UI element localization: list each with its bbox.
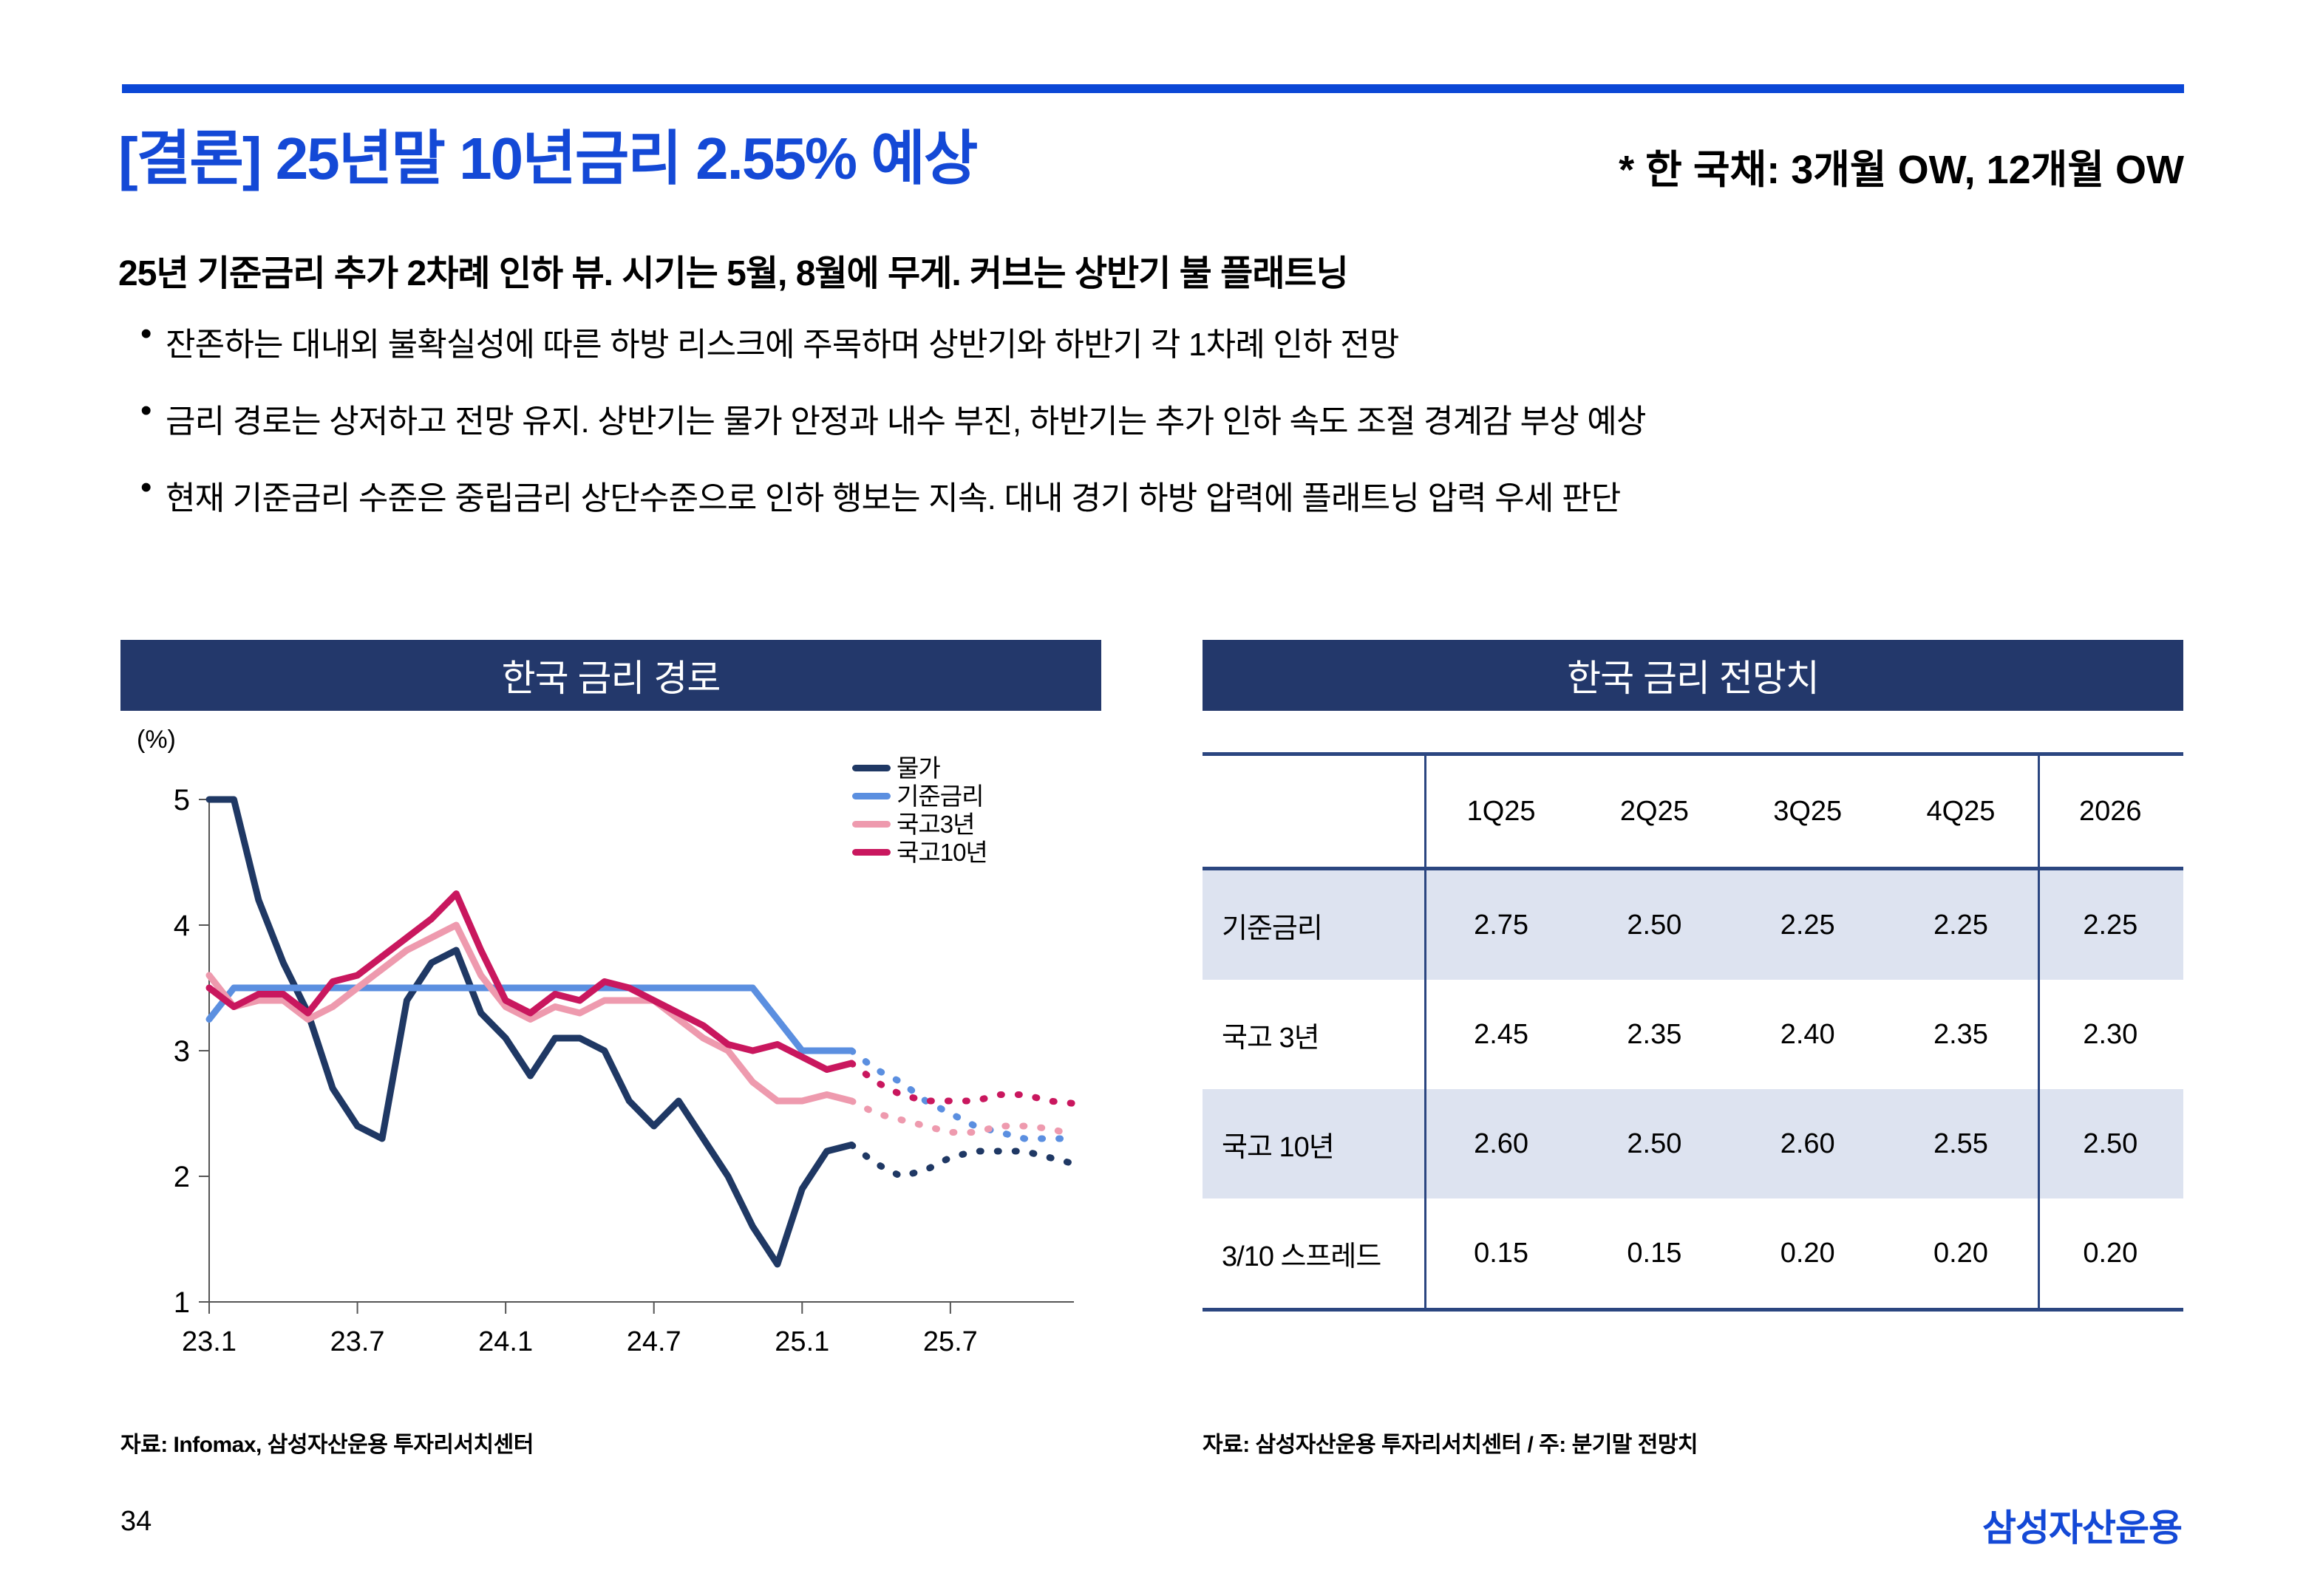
table-cell: 0.20 [1731,1198,1884,1310]
list-item: • 금리 경로는 상저하고 전망 유지. 상반기는 물가 안정과 내수 부진, … [140,395,2173,442]
table-row-label: 국고 10년 [1203,1089,1424,1198]
table-cell: 2.45 [1424,980,1577,1089]
y-axis-tick-label: 1 [174,1286,190,1319]
table-cell: 0.20 [2038,1198,2183,1310]
y-axis-tick-label: 4 [174,910,190,942]
table-cell: 0.20 [1884,1198,2037,1310]
x-axis-tick-label: 24.7 [627,1326,681,1357]
table-cell: 2.40 [1731,980,1884,1089]
page-number: 34 [120,1506,152,1538]
table-body: 기준금리2.752.502.252.252.25국고 3년2.452.352.4… [1203,869,2183,1310]
table-row: 국고 10년2.602.502.602.552.50 [1203,1089,2183,1198]
table-cell: 2.50 [2038,1089,2183,1198]
bullet-marker-icon: • [140,471,166,504]
legend-label: 물가 [897,756,940,780]
legend-item-mulga: 물가 [852,754,987,782]
table-cell: 2.35 [1884,980,2037,1089]
slide: [결론] 25년말 10년금리 2.55% 예상 * 한 국채: 3개월 OW,… [0,0,2306,1596]
top-rule [122,84,2184,93]
legend-item-ktb10y: 국고10년 [852,838,987,866]
y-axis-tick-label: 3 [174,1035,190,1068]
table-cell: 0.15 [1424,1198,1577,1310]
table-col-header: 3Q25 [1731,754,1884,869]
table-row-label: 3/10 스프레드 [1203,1198,1424,1310]
table-cell: 0.15 [1578,1198,1731,1310]
legend-item-base-rate: 기준금리 [852,782,987,810]
lead-sentence: 25년 기준금리 추가 2차례 인하 뷰. 시기는 5월, 8월에 무게. 커브… [118,244,1348,296]
brand-logo: 삼성자산운용 [1982,1498,2182,1552]
list-item: • 잔존하는 대내외 불확실성에 따른 하방 리스크에 주목하며 상반기와 하반… [140,318,2173,365]
table-row-label: 국고 3년 [1203,980,1424,1089]
table-cell: 2.35 [1578,980,1731,1089]
table-row: 기준금리2.752.502.252.252.25 [1203,869,2183,981]
x-axis-tick-label: 23.1 [182,1326,237,1357]
table-cell: 2.25 [1731,869,1884,981]
series-line-물가 [209,799,851,1264]
series-forecast-line-국고3년 [851,1101,1074,1135]
series-forecast-line-물가 [851,1145,1074,1177]
table-source-note: 자료: 삼성자산운용 투자리서치센터 / 주: 분기말 전망치 [1203,1426,1698,1459]
table-col-header: 2Q25 [1578,754,1731,869]
x-axis-tick-label: 25.1 [775,1326,829,1357]
bullet-text: 현재 기준금리 수준은 중립금리 상단수준으로 인하 행보는 지속. 대내 경기… [166,471,1620,519]
table-col-header: 2026 [2038,754,2183,869]
table-header: 1Q252Q253Q254Q252026 [1203,754,2183,869]
table-panel-body: 1Q252Q253Q254Q252026 기준금리2.752.502.252.2… [1203,711,2183,1435]
table-panel-heading: 한국 금리 전망치 [1203,640,2183,711]
series-forecast-line-국고10년 [851,1063,1074,1103]
chart-source-note: 자료: Infomax, 삼성자산운용 투자리서치센터 [120,1426,534,1459]
legend-swatch-icon [852,793,891,799]
table-cell: 2.75 [1424,869,1577,981]
legend-label: 국고3년 [897,812,974,836]
table-cell: 2.50 [1578,869,1731,981]
series-line-국고10년 [209,894,851,1070]
forecast-table: 1Q252Q253Q254Q252026 기준금리2.752.502.252.2… [1203,752,2183,1312]
chart-panel-heading: 한국 금리 경로 [120,640,1101,711]
legend-item-ktb3y: 국고3년 [852,810,987,838]
title-note: * 한 국채: 3개월 OW, 12개월 OW [1619,137,2184,195]
x-axis-tick-label: 24.1 [478,1326,533,1357]
list-item: • 현재 기준금리 수준은 중립금리 상단수준으로 인하 행보는 지속. 대내 … [140,471,2173,519]
legend-label: 기준금리 [897,784,983,808]
bullet-text: 금리 경로는 상저하고 전망 유지. 상반기는 물가 안정과 내수 부진, 하반… [166,395,1646,442]
x-axis-tick-label: 23.7 [330,1326,385,1357]
legend-swatch-icon [852,765,891,771]
chart-legend: 물가 기준금리 국고3년 국고10년 [852,754,987,866]
table-row-label: 기준금리 [1203,869,1424,981]
table-row: 3/10 스프레드0.150.150.200.200.20 [1203,1198,2183,1310]
table-row: 국고 3년2.452.352.402.352.30 [1203,980,2183,1089]
table-col-header: 1Q25 [1424,754,1577,869]
table-cell: 2.60 [1731,1089,1884,1198]
table-cell: 2.50 [1578,1089,1731,1198]
y-axis-tick-label: 2 [174,1161,190,1193]
legend-swatch-icon [852,849,891,856]
bullet-list: • 잔존하는 대내외 불확실성에 따른 하방 리스크에 주목하며 상반기와 하반… [140,318,2173,548]
table-col-header: 4Q25 [1884,754,2037,869]
table-cell: 2.25 [2038,869,2183,981]
bullet-marker-icon: • [140,395,166,427]
table-corner-cell [1203,754,1424,869]
table-cell: 2.30 [2038,980,2183,1089]
bullet-text: 잔존하는 대내외 불확실성에 따른 하방 리스크에 주목하며 상반기와 하반기 … [166,318,1399,365]
chart-panel-body: (%) 1234523.123.724.124.725.125.7 물가 기준금… [120,711,1101,1435]
y-axis-tick-label: 5 [174,784,190,816]
table-header-row: 1Q252Q253Q254Q252026 [1203,754,2183,869]
table-cell: 2.55 [1884,1089,2037,1198]
legend-swatch-icon [852,821,891,828]
table-cell: 2.60 [1424,1089,1577,1198]
legend-label: 국고10년 [897,840,987,864]
page-title: [결론] 25년말 10년금리 2.55% 예상 [118,111,976,197]
x-axis-tick-label: 25.7 [923,1326,978,1357]
bullet-marker-icon: • [140,318,166,350]
table-cell: 2.25 [1884,869,2037,981]
